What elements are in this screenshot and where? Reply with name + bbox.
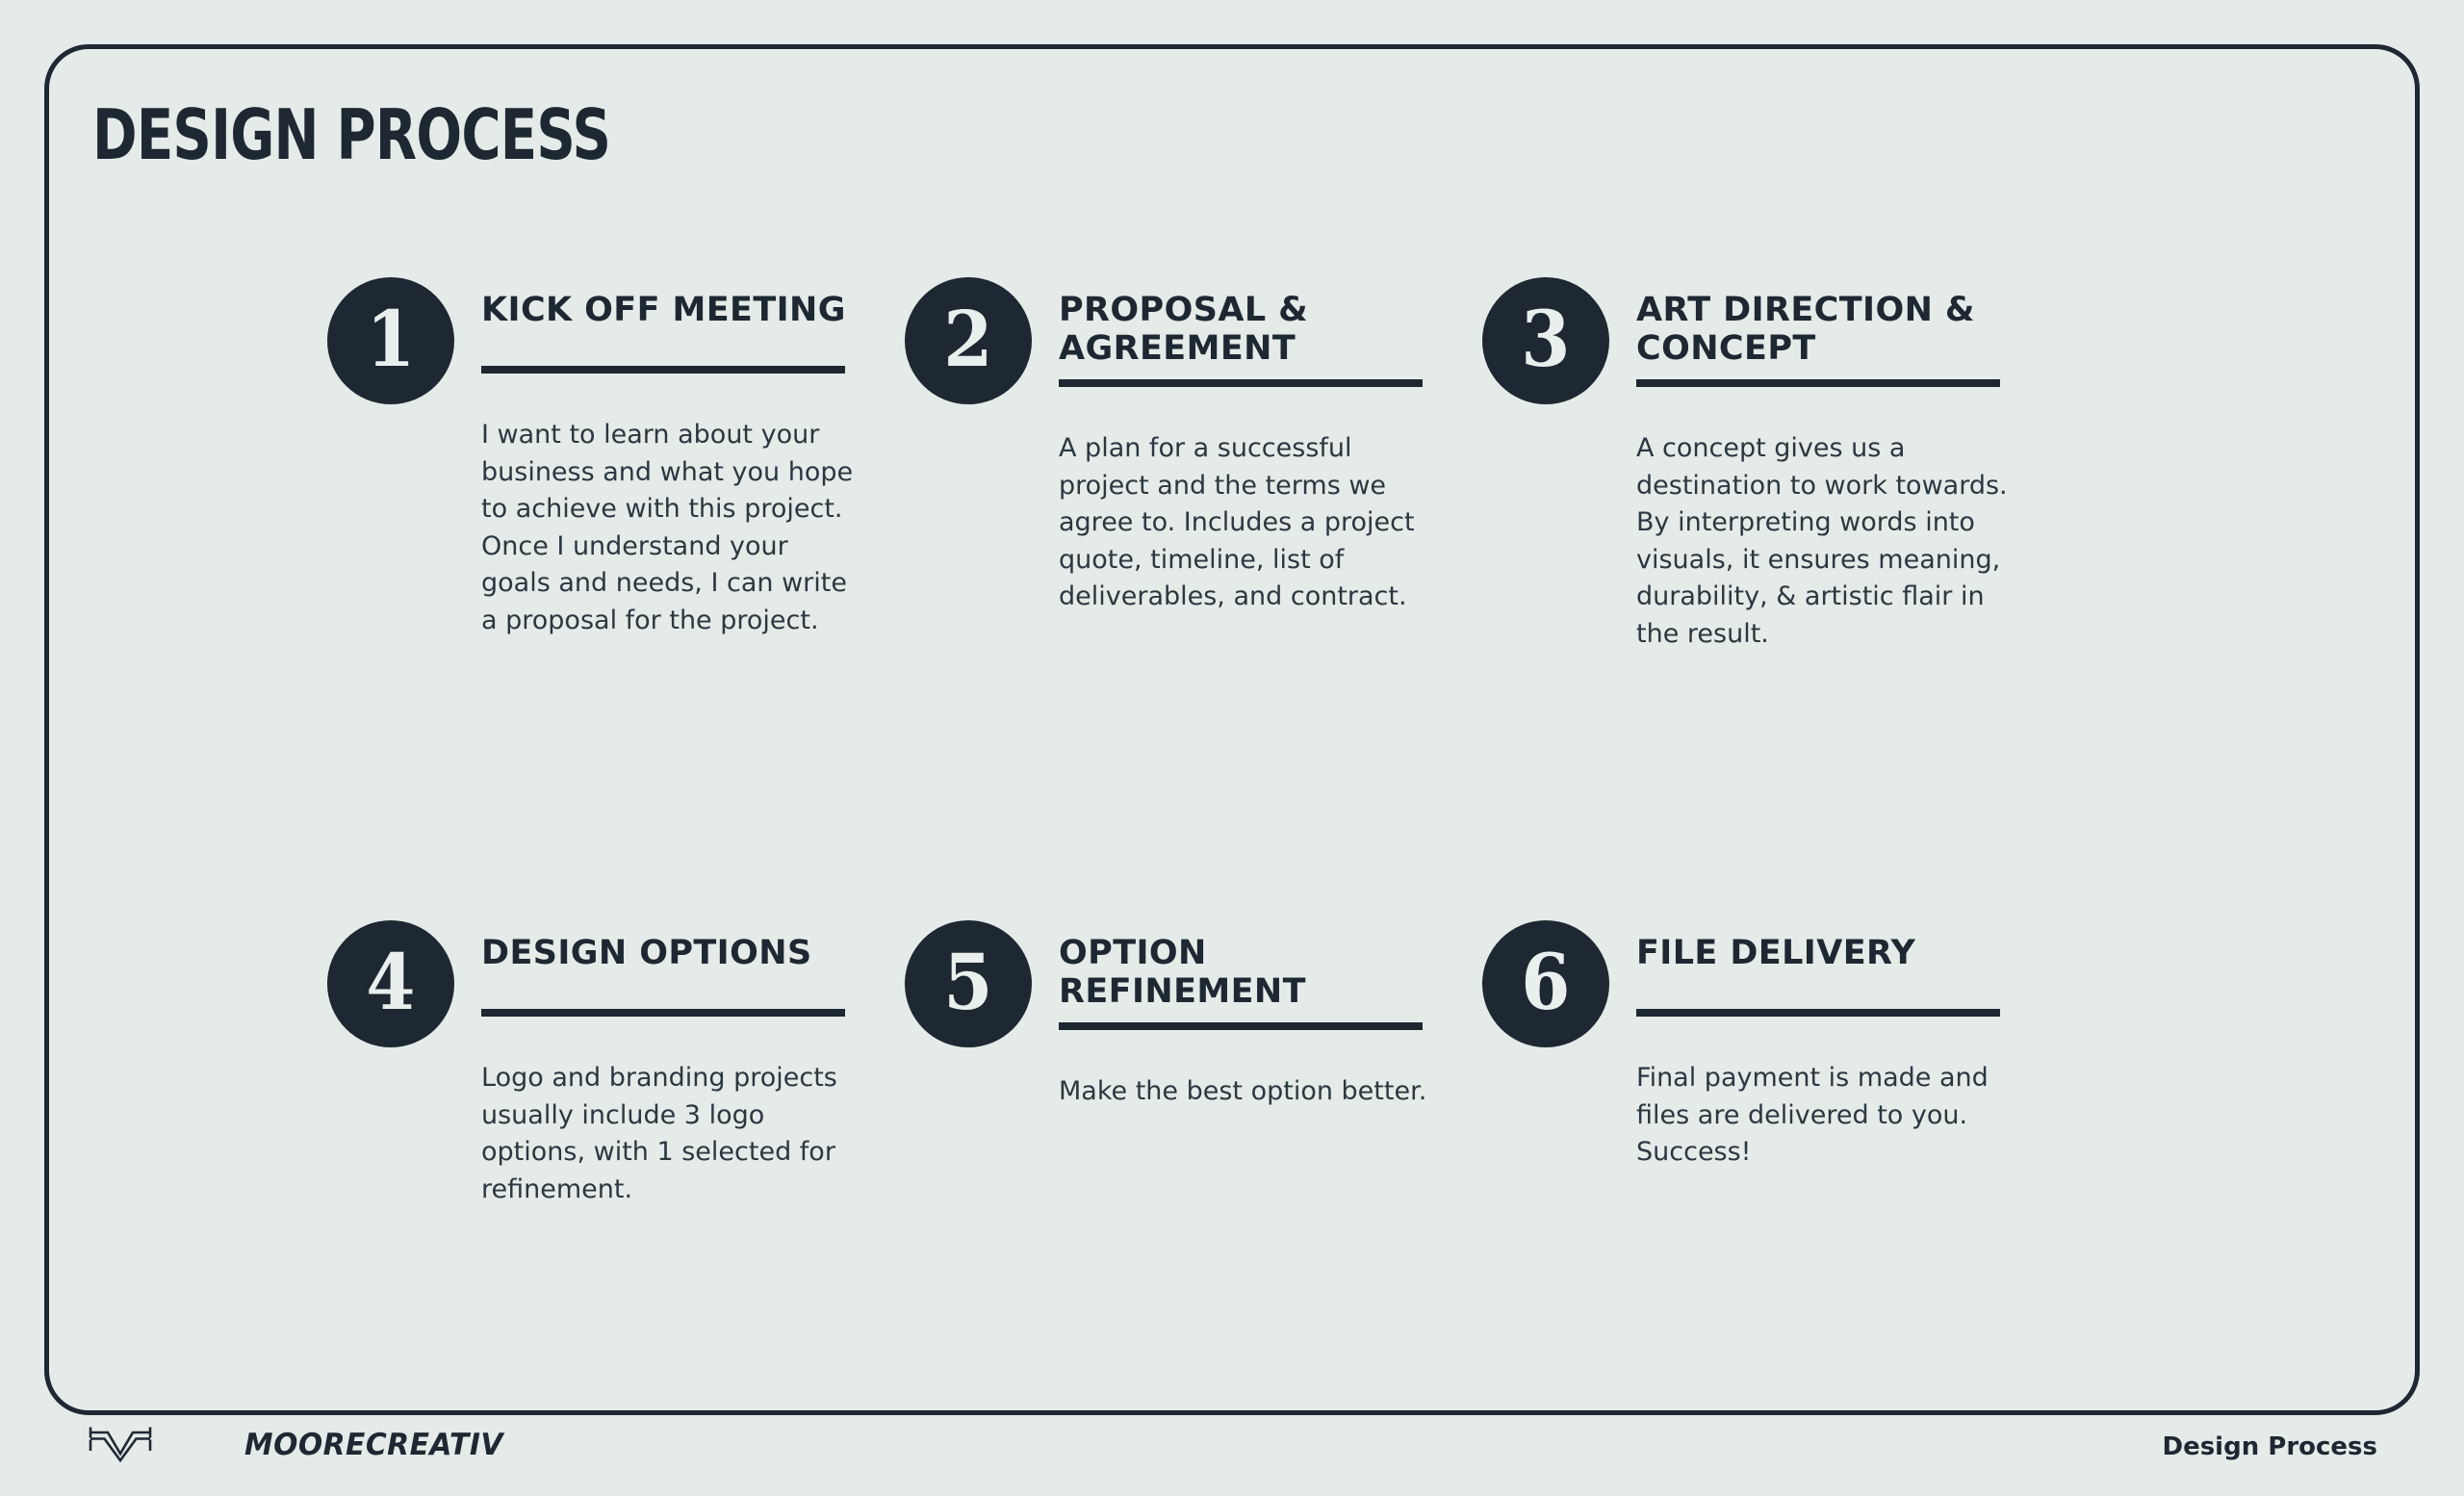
slide-footer: MOORECREATIV Design Process [0, 1419, 2464, 1496]
design-process-slide: DESIGN PROCESS 1 KICK OFF MEETING I want… [0, 0, 2464, 1496]
step-description-6: Final payment is made and files are deli… [1636, 1060, 2014, 1172]
footer-page-label: Design Process [2162, 1432, 2377, 1461]
step-content-4: DESIGN OPTIONS Logo and branding project… [481, 920, 866, 1208]
step-content-3: ART DIRECTION & CONCEPT A concept gives … [1636, 277, 2021, 653]
process-step-4: 4 DESIGN OPTIONS Logo and branding proje… [327, 920, 866, 1208]
step-content-2: PROPOSAL & AGREEMENT A plan for a succes… [1059, 277, 1444, 616]
step-divider-2 [1059, 379, 1423, 387]
step-heading-1: KICK OFF MEETING [481, 277, 866, 354]
step-number-6: 6 [1521, 943, 1570, 1024]
step-number-badge-5: 5 [905, 920, 1032, 1047]
step-number-badge-3: 3 [1482, 277, 1609, 404]
step-divider-5 [1059, 1022, 1423, 1030]
step-heading-6: FILE DELIVERY [1636, 920, 2021, 997]
step-content-1: KICK OFF MEETING I want to learn about y… [481, 277, 866, 639]
step-number-badge-4: 4 [327, 920, 454, 1047]
step-divider-6 [1636, 1009, 2000, 1017]
step-heading-3: ART DIRECTION & CONCEPT [1636, 277, 2021, 368]
process-step-5: 5 OPTION REFINEMENT Make the best option… [905, 920, 1444, 1208]
step-number-2: 2 [943, 300, 992, 381]
step-description-3: A concept gives us a destination to work… [1636, 430, 2014, 653]
step-number-1: 1 [366, 300, 415, 381]
step-heading-5: OPTION REFINEMENT [1059, 920, 1444, 1011]
process-step-2: 2 PROPOSAL & AGREEMENT A plan for a succ… [905, 277, 1444, 653]
step-number-4: 4 [366, 943, 415, 1024]
brand-wordmark: MOORECREATIV [244, 1428, 503, 1462]
brand-logo: MOORECREATIV [89, 1425, 514, 1465]
step-divider-1 [481, 366, 845, 374]
step-heading-2: PROPOSAL & AGREEMENT [1059, 277, 1444, 368]
step-content-6: FILE DELIVERY Final payment is made and … [1636, 920, 2021, 1172]
step-content-5: OPTION REFINEMENT Make the best option b… [1059, 920, 1444, 1111]
process-steps-grid: 1 KICK OFF MEETING I want to learn about… [327, 277, 2252, 1208]
step-number-badge-6: 6 [1482, 920, 1609, 1047]
step-heading-4: DESIGN OPTIONS [481, 920, 866, 997]
step-description-1: I want to learn about your business and … [481, 417, 859, 639]
step-description-5: Make the best option better. [1059, 1073, 1436, 1111]
step-number-badge-1: 1 [327, 277, 454, 404]
step-divider-3 [1636, 379, 2000, 387]
moorecreativ-monogram-icon [89, 1425, 152, 1465]
page-title: DESIGN PROCESS [92, 100, 610, 169]
step-number-badge-2: 2 [905, 277, 1032, 404]
step-description-4: Logo and branding projects usually inclu… [481, 1060, 859, 1208]
step-description-2: A plan for a successful project and the … [1059, 430, 1436, 616]
step-number-3: 3 [1521, 300, 1570, 381]
process-step-1: 1 KICK OFF MEETING I want to learn about… [327, 277, 866, 653]
step-number-5: 5 [943, 943, 992, 1024]
process-step-3: 3 ART DIRECTION & CONCEPT A concept give… [1482, 277, 2021, 653]
process-step-6: 6 FILE DELIVERY Final payment is made an… [1482, 920, 2021, 1208]
step-divider-4 [481, 1009, 845, 1017]
